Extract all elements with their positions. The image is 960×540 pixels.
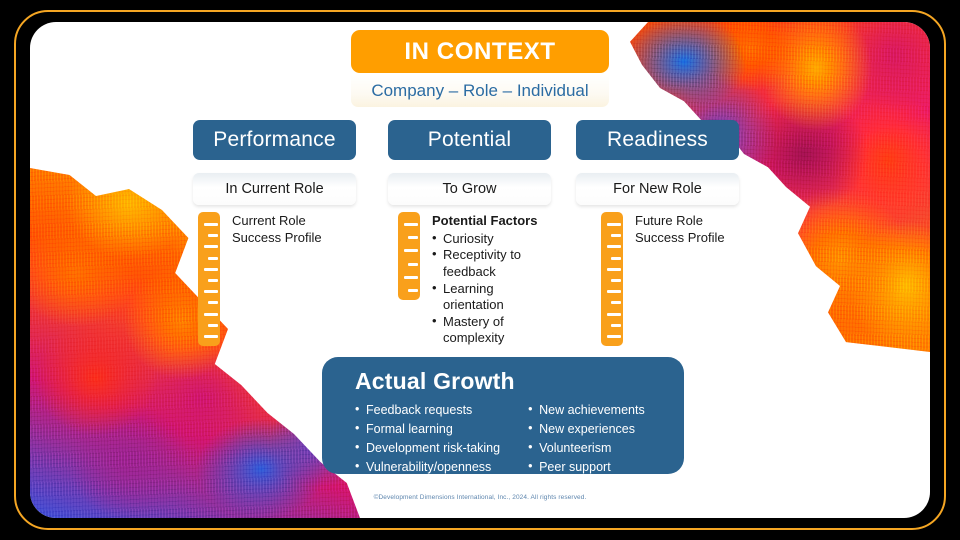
column-performance: Performance In Current Role — [193, 120, 356, 205]
list-item: New achievements — [528, 401, 645, 420]
column-header-performance: Performance — [193, 120, 356, 160]
ruler-tick — [607, 335, 621, 338]
actual-growth-list-left: Feedback requests Formal learning Develo… — [355, 401, 500, 477]
potential-factors-list: Curiosity Receptivity to feedback Learni… — [432, 231, 557, 347]
ruler-tick — [607, 245, 621, 248]
ruler-tick — [607, 313, 621, 316]
ruler-icon-potential — [398, 212, 420, 300]
column-title-potential: Potential — [428, 128, 512, 152]
list-item: Development risk-taking — [355, 439, 500, 458]
slide-content: IN CONTEXT Company – Role – Individual P… — [30, 22, 930, 518]
list-item: Peer support — [528, 458, 645, 477]
ruler-tick — [208, 257, 218, 260]
ruler-tick — [607, 290, 621, 293]
ruler-tick — [208, 324, 218, 327]
ruler-tick — [611, 234, 621, 237]
column-potential: Potential To Grow — [388, 120, 551, 205]
ruler-tick — [404, 223, 418, 226]
ruler-tick — [204, 290, 218, 293]
column-body-readiness: Future Role Success Profile — [601, 212, 745, 346]
column-subtitle-text-potential: To Grow — [443, 181, 497, 197]
list-item: Volunteerism — [528, 439, 645, 458]
ruler-tick — [611, 279, 621, 282]
ruler-tick — [204, 223, 218, 226]
ruler-tick — [204, 313, 218, 316]
ruler-tick — [611, 324, 621, 327]
column-body-text-performance: Current Role Success Profile — [232, 212, 342, 346]
in-context-subtitle-panel: Company – Role – Individual — [351, 75, 609, 107]
column-body-text-readiness: Future Role Success Profile — [635, 212, 745, 346]
ruler-tick — [204, 245, 218, 248]
column-title-readiness: Readiness — [607, 128, 708, 152]
column-header-potential: Potential — [388, 120, 551, 160]
ruler-icon-performance — [198, 212, 220, 346]
ruler-tick — [208, 234, 218, 237]
ruler-icon-readiness — [601, 212, 623, 346]
performance-line-1: Current Role — [232, 213, 342, 230]
list-item: Mastery of complexity — [432, 314, 557, 347]
list-item: New experiences — [528, 420, 645, 439]
in-context-banner: IN CONTEXT — [351, 30, 609, 73]
list-item: Vulnerability/openness — [355, 458, 500, 477]
actual-growth-panel: Actual Growth Feedback requests Formal l… — [322, 357, 684, 474]
ruler-tick — [208, 301, 218, 304]
column-subtitle-text-readiness: For New Role — [613, 181, 702, 197]
column-readiness: Readiness For New Role — [576, 120, 739, 205]
in-context-title: IN CONTEXT — [404, 38, 555, 66]
in-context-subtitle: Company – Role – Individual — [371, 81, 588, 101]
list-item: Learning orientation — [432, 281, 557, 314]
list-item: Feedback requests — [355, 401, 500, 420]
ruler-tick — [408, 236, 418, 239]
column-subtitle-potential: To Grow — [388, 173, 551, 205]
ruler-tick — [607, 268, 621, 271]
ruler-tick — [611, 301, 621, 304]
column-subtitle-performance: In Current Role — [193, 173, 356, 205]
column-subtitle-readiness: For New Role — [576, 173, 739, 205]
ruler-tick — [404, 249, 418, 252]
column-header-readiness: Readiness — [576, 120, 739, 160]
column-body-potential: Potential Factors Curiosity Receptivity … — [398, 212, 557, 347]
actual-growth-title: Actual Growth — [355, 368, 684, 395]
copyright-notice: ©Development Dimensions International, I… — [30, 494, 930, 501]
readiness-line-2: Success Profile — [635, 230, 745, 247]
performance-line-2: Success Profile — [232, 230, 342, 247]
potential-factors-heading: Potential Factors — [432, 213, 557, 230]
ruler-tick — [204, 335, 218, 338]
actual-growth-columns: Feedback requests Formal learning Develo… — [355, 401, 684, 477]
ruler-tick — [611, 257, 621, 260]
list-item: Curiosity — [432, 231, 557, 248]
ruler-tick — [408, 289, 418, 292]
slide-root: IN CONTEXT Company – Role – Individual P… — [0, 0, 960, 540]
ruler-tick — [204, 268, 218, 271]
column-subtitle-text-performance: In Current Role — [225, 181, 323, 197]
column-body-text-potential: Potential Factors Curiosity Receptivity … — [432, 212, 557, 347]
readiness-line-1: Future Role — [635, 213, 745, 230]
ruler-tick — [408, 263, 418, 266]
slide-canvas: IN CONTEXT Company – Role – Individual P… — [30, 22, 930, 518]
column-body-performance: Current Role Success Profile — [198, 212, 342, 346]
list-item: Formal learning — [355, 420, 500, 439]
ruler-tick — [607, 223, 621, 226]
ruler-tick — [404, 276, 418, 279]
list-item: Receptivity to feedback — [432, 247, 557, 280]
ruler-tick — [208, 279, 218, 282]
column-title-performance: Performance — [213, 128, 335, 152]
actual-growth-list-right: New achievements New experiences Volunte… — [528, 401, 645, 477]
